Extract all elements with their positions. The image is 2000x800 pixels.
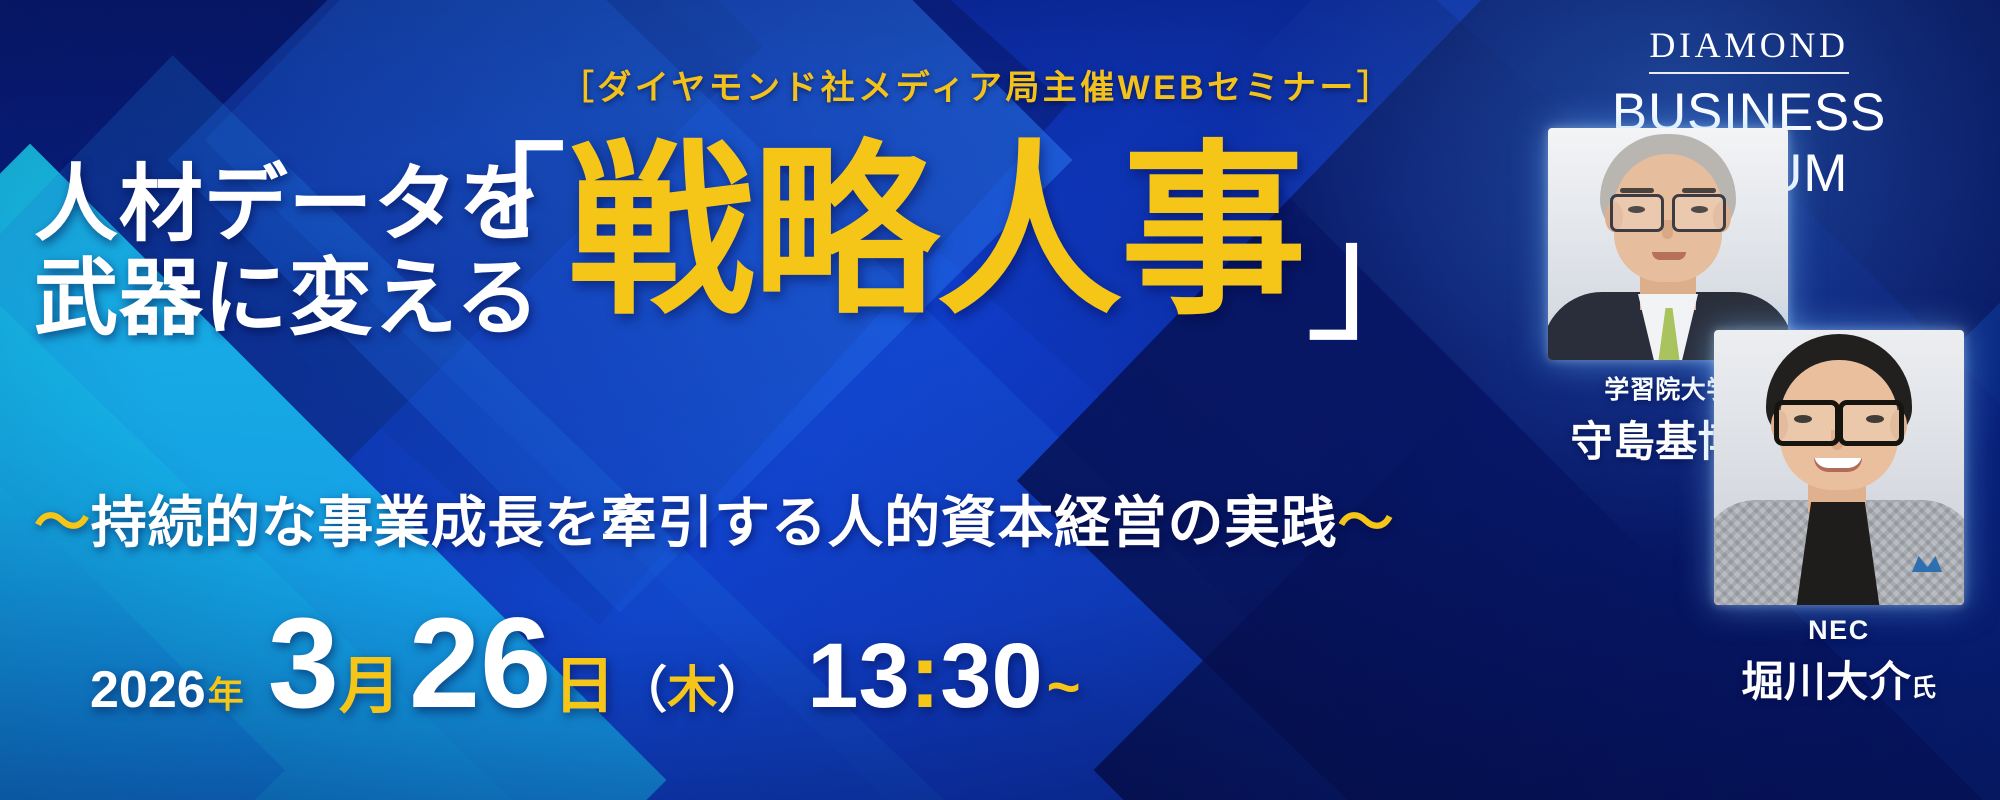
seminar-tag: ［ダイヤモンド社メディア局主催WEBセミナー］: [560, 60, 1394, 109]
bracket-open-icon: 「: [418, 142, 568, 292]
eyebrow-right-shape: [1682, 188, 1716, 193]
speaker-1-photo: [1548, 128, 1788, 360]
bracket-close-icon: 」: [1305, 202, 1455, 352]
headline-keyword: 戦略人事: [568, 140, 1305, 330]
event-datetime: 2026 年 3 月 26 日 （木） 13:30 ~: [90, 600, 1081, 728]
date-day: 26: [409, 600, 551, 728]
subtitle: 〜持続的な事業成長を牽引する人的資本経営の実践〜: [34, 478, 1394, 559]
eyeglasses-icon: [1774, 400, 1904, 436]
date-year-unit: 年: [208, 666, 244, 718]
speaker-2-caption: NEC 堀川大介氏: [1714, 615, 1964, 709]
date-year: 2026: [90, 660, 206, 720]
speaker-2-name-text: 堀川大介: [1741, 660, 1911, 706]
date-month-unit: 月: [339, 635, 401, 725]
date-day-of-week: （木）: [617, 650, 767, 722]
eyeglasses-icon: [1610, 194, 1726, 226]
mouth-shape: [1652, 252, 1686, 260]
headline-keyword-block: 「 戦略人事 」: [418, 140, 1455, 330]
subtitle-text: 持続的な事業成長を牽引する人的資本経営の実践: [91, 491, 1338, 554]
speaker-2-name: 堀川大介氏: [1714, 648, 1964, 709]
mouth-shape: [1814, 458, 1862, 472]
logo-diamond-text: DIAMOND: [1649, 24, 1848, 74]
subtitle-tilde-open: 〜: [34, 491, 91, 554]
speaker-2-org: NEC: [1714, 615, 1964, 646]
subtitle-tilde-close: 〜: [1337, 491, 1394, 554]
speaker-2-photo: [1714, 330, 1964, 605]
speaker-card-2: NEC 堀川大介氏: [1714, 330, 1964, 709]
time-colon: :: [910, 625, 941, 727]
time-minute: 30: [940, 625, 1042, 727]
eyebrow-left-shape: [1620, 188, 1654, 193]
time-hour: 13: [807, 625, 909, 727]
date-month: 3: [268, 600, 339, 728]
speaker-2-name-suffix: 氏: [1911, 675, 1936, 702]
seminar-banner: ［ダイヤモンド社メディア局主催WEBセミナー］ 人材データを 武器に変える 「 …: [0, 0, 2000, 800]
date-day-unit: 日: [553, 635, 615, 725]
time-suffix-tilde: ~: [1047, 654, 1081, 721]
event-time: 13:30: [807, 630, 1042, 722]
